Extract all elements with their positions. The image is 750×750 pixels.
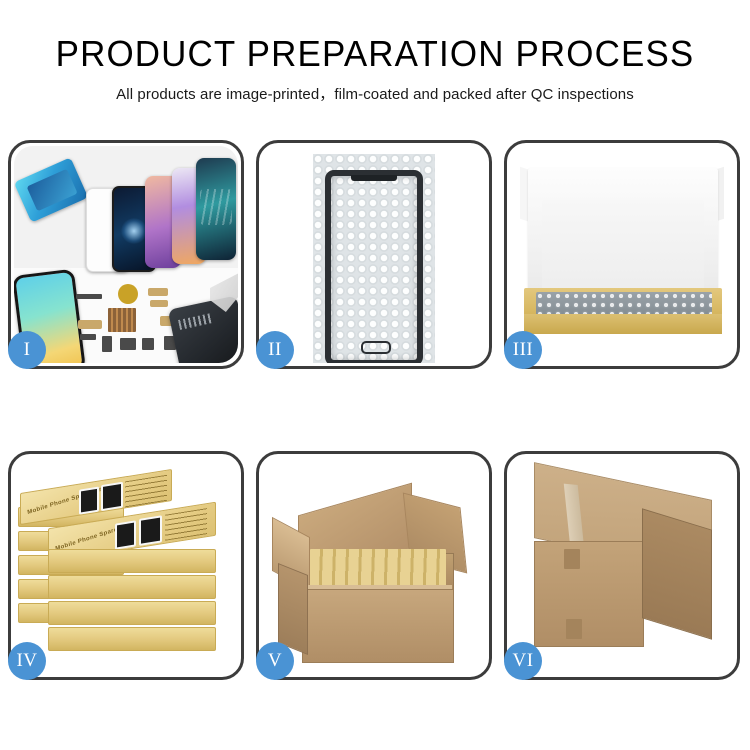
- product-preparation-process-page: PRODUCT PREPARATION PROCESS All products…: [0, 0, 750, 750]
- step-image-inner-boxing: [510, 146, 734, 363]
- page-subtitle: All products are image-printed，film-coat…: [0, 74, 750, 104]
- step-panel-iv[interactable]: Mobile Phone Spare Parts Mobile Phone Sp…: [8, 451, 244, 680]
- box-tray-front-icon: [524, 314, 722, 334]
- bracket-part-icon: [80, 334, 96, 340]
- box-artwork-thumb-icon: [139, 515, 162, 546]
- step-badge-iii: III: [504, 331, 542, 369]
- camera-module-part-icon: [120, 338, 136, 350]
- retail-box-stack: Mobile Phone Spare Parts Mobile Phone Sp…: [18, 479, 238, 665]
- carton-tape-tab-lower-icon: [566, 619, 582, 639]
- process-steps-grid: I II III: [8, 140, 742, 685]
- box-artwork-thumb-icon: [79, 487, 99, 515]
- earpiece-mesh-part-icon: [76, 294, 102, 299]
- retail-box: [48, 575, 216, 599]
- step-panel-ii[interactable]: II: [256, 140, 492, 369]
- carton-tape-tab-upper-icon: [564, 549, 580, 569]
- step-panel-v[interactable]: V: [256, 451, 492, 680]
- header: PRODUCT PREPARATION PROCESS All products…: [0, 0, 750, 104]
- step-image-retail-box-stacking: Mobile Phone Spare Parts Mobile Phone Sp…: [14, 457, 238, 674]
- phone-display-teal-icon: [196, 158, 236, 260]
- box-artwork-thumb-icon: [115, 520, 136, 549]
- step-image-carton-filling: [262, 457, 486, 674]
- step-image-carton-sealed: [510, 457, 734, 674]
- screen-frame-icon: [325, 170, 423, 363]
- step-badge-i: I: [8, 331, 46, 369]
- carton-front-face-icon: [302, 589, 454, 663]
- carton-right-face-icon: [642, 508, 712, 639]
- connector-part-icon: [78, 320, 102, 329]
- page-title: PRODUCT PREPARATION PROCESS: [11, 0, 739, 74]
- sim-tray-part-icon: [102, 336, 112, 352]
- box-lid-icon: [528, 168, 718, 294]
- box-checklist-icon: [125, 475, 167, 508]
- flex-cable-2-part-icon: [150, 300, 168, 307]
- retail-box: [48, 601, 216, 625]
- step-badge-ii: II: [256, 331, 294, 369]
- flex-cable-part-icon: [148, 288, 168, 296]
- step-image-bubble-wrapping: [262, 146, 486, 363]
- step-image-raw-materials: [14, 146, 238, 363]
- step-panel-vi[interactable]: VI: [504, 451, 740, 680]
- carton-front-face-icon: [534, 541, 644, 647]
- step-badge-iv: IV: [8, 642, 46, 680]
- box-checklist-icon: [165, 508, 207, 541]
- retail-box: [48, 549, 216, 573]
- step-panel-i[interactable]: I: [8, 140, 244, 369]
- retail-box: [48, 627, 216, 651]
- step-badge-v: V: [256, 642, 294, 680]
- home-button-icon: [361, 341, 391, 354]
- step-badge-vi: VI: [504, 642, 542, 680]
- speaker-part-icon: [142, 338, 154, 350]
- box-artwork-thumb-icon: [101, 482, 123, 511]
- chip-grid-part-icon: [108, 308, 136, 332]
- step-panel-iii[interactable]: III: [504, 140, 740, 369]
- carton-left-face-icon: [278, 563, 308, 655]
- bubble-wrap-icon: [313, 154, 435, 363]
- vibration-motor-part-icon: [118, 284, 138, 304]
